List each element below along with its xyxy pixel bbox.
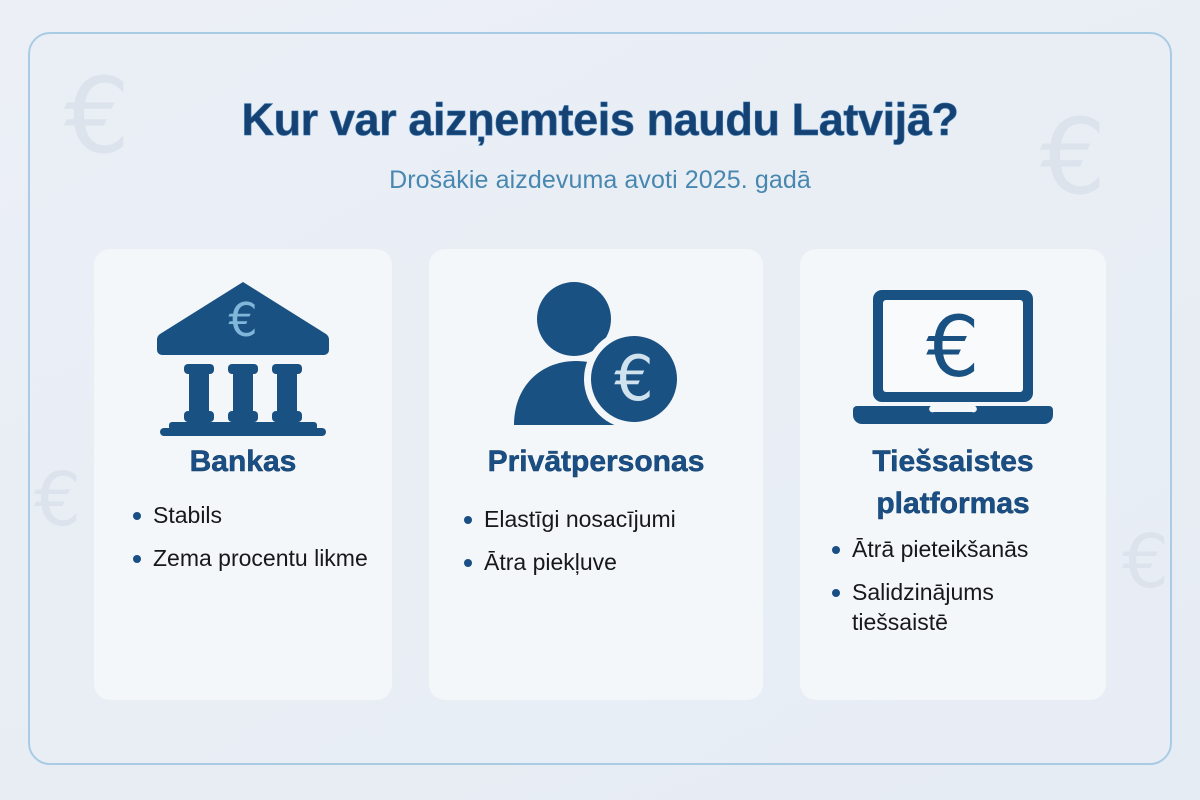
card-title: Tiešsaistes platformas	[818, 441, 1088, 525]
infographic-poster: € € € € Kur var aizņemteis naudu Latvijā…	[0, 0, 1200, 800]
person-euro-coin-icon: €	[512, 277, 680, 435]
card-feature-list: Ātrā pieteikšanās Salidzinājums tiešsais…	[810, 535, 1096, 651]
svg-text:€: €	[926, 298, 979, 396]
bank-columns-euro-icon: €	[154, 277, 332, 435]
card-privatpersonas: € Privātpersonas Elastīgi nosacījumi Ātr…	[429, 249, 763, 700]
list-item: Ātrā pieteikšanās	[826, 535, 1096, 564]
list-item: Elastīgi nosacījumi	[458, 505, 756, 534]
card-feature-list: Stabils Zema procentu likme	[97, 501, 389, 588]
page-subtitle: Drošākie aizdevuma avoti 2025. gadā	[0, 166, 1200, 195]
svg-text:€: €	[614, 342, 653, 415]
poster-header: Kur var aizņemteis naudu Latvijā? Drošāk…	[0, 94, 1200, 195]
card-bankas: €	[94, 249, 392, 700]
card-group: €	[94, 249, 1106, 700]
list-item: Salidzinājums tiešsaistē	[826, 578, 1096, 637]
laptop-euro-screen-icon: €	[853, 277, 1053, 435]
card-tiessaistes-platformas: € Tiešsaistes platformas Ātrā pieteikšan…	[800, 249, 1106, 700]
card-feature-list: Elastīgi nosacījumi Ātra piekļuve	[436, 505, 756, 592]
list-item: Stabils	[127, 501, 389, 530]
card-title: Bankas	[190, 441, 297, 483]
page-title: Kur var aizņemteis naudu Latvijā?	[0, 94, 1200, 146]
card-title: Privātpersonas	[488, 441, 705, 483]
list-item: Zema procentu likme	[127, 544, 389, 573]
list-item: Ātra piekļuve	[458, 548, 756, 577]
svg-text:€: €	[228, 293, 257, 347]
